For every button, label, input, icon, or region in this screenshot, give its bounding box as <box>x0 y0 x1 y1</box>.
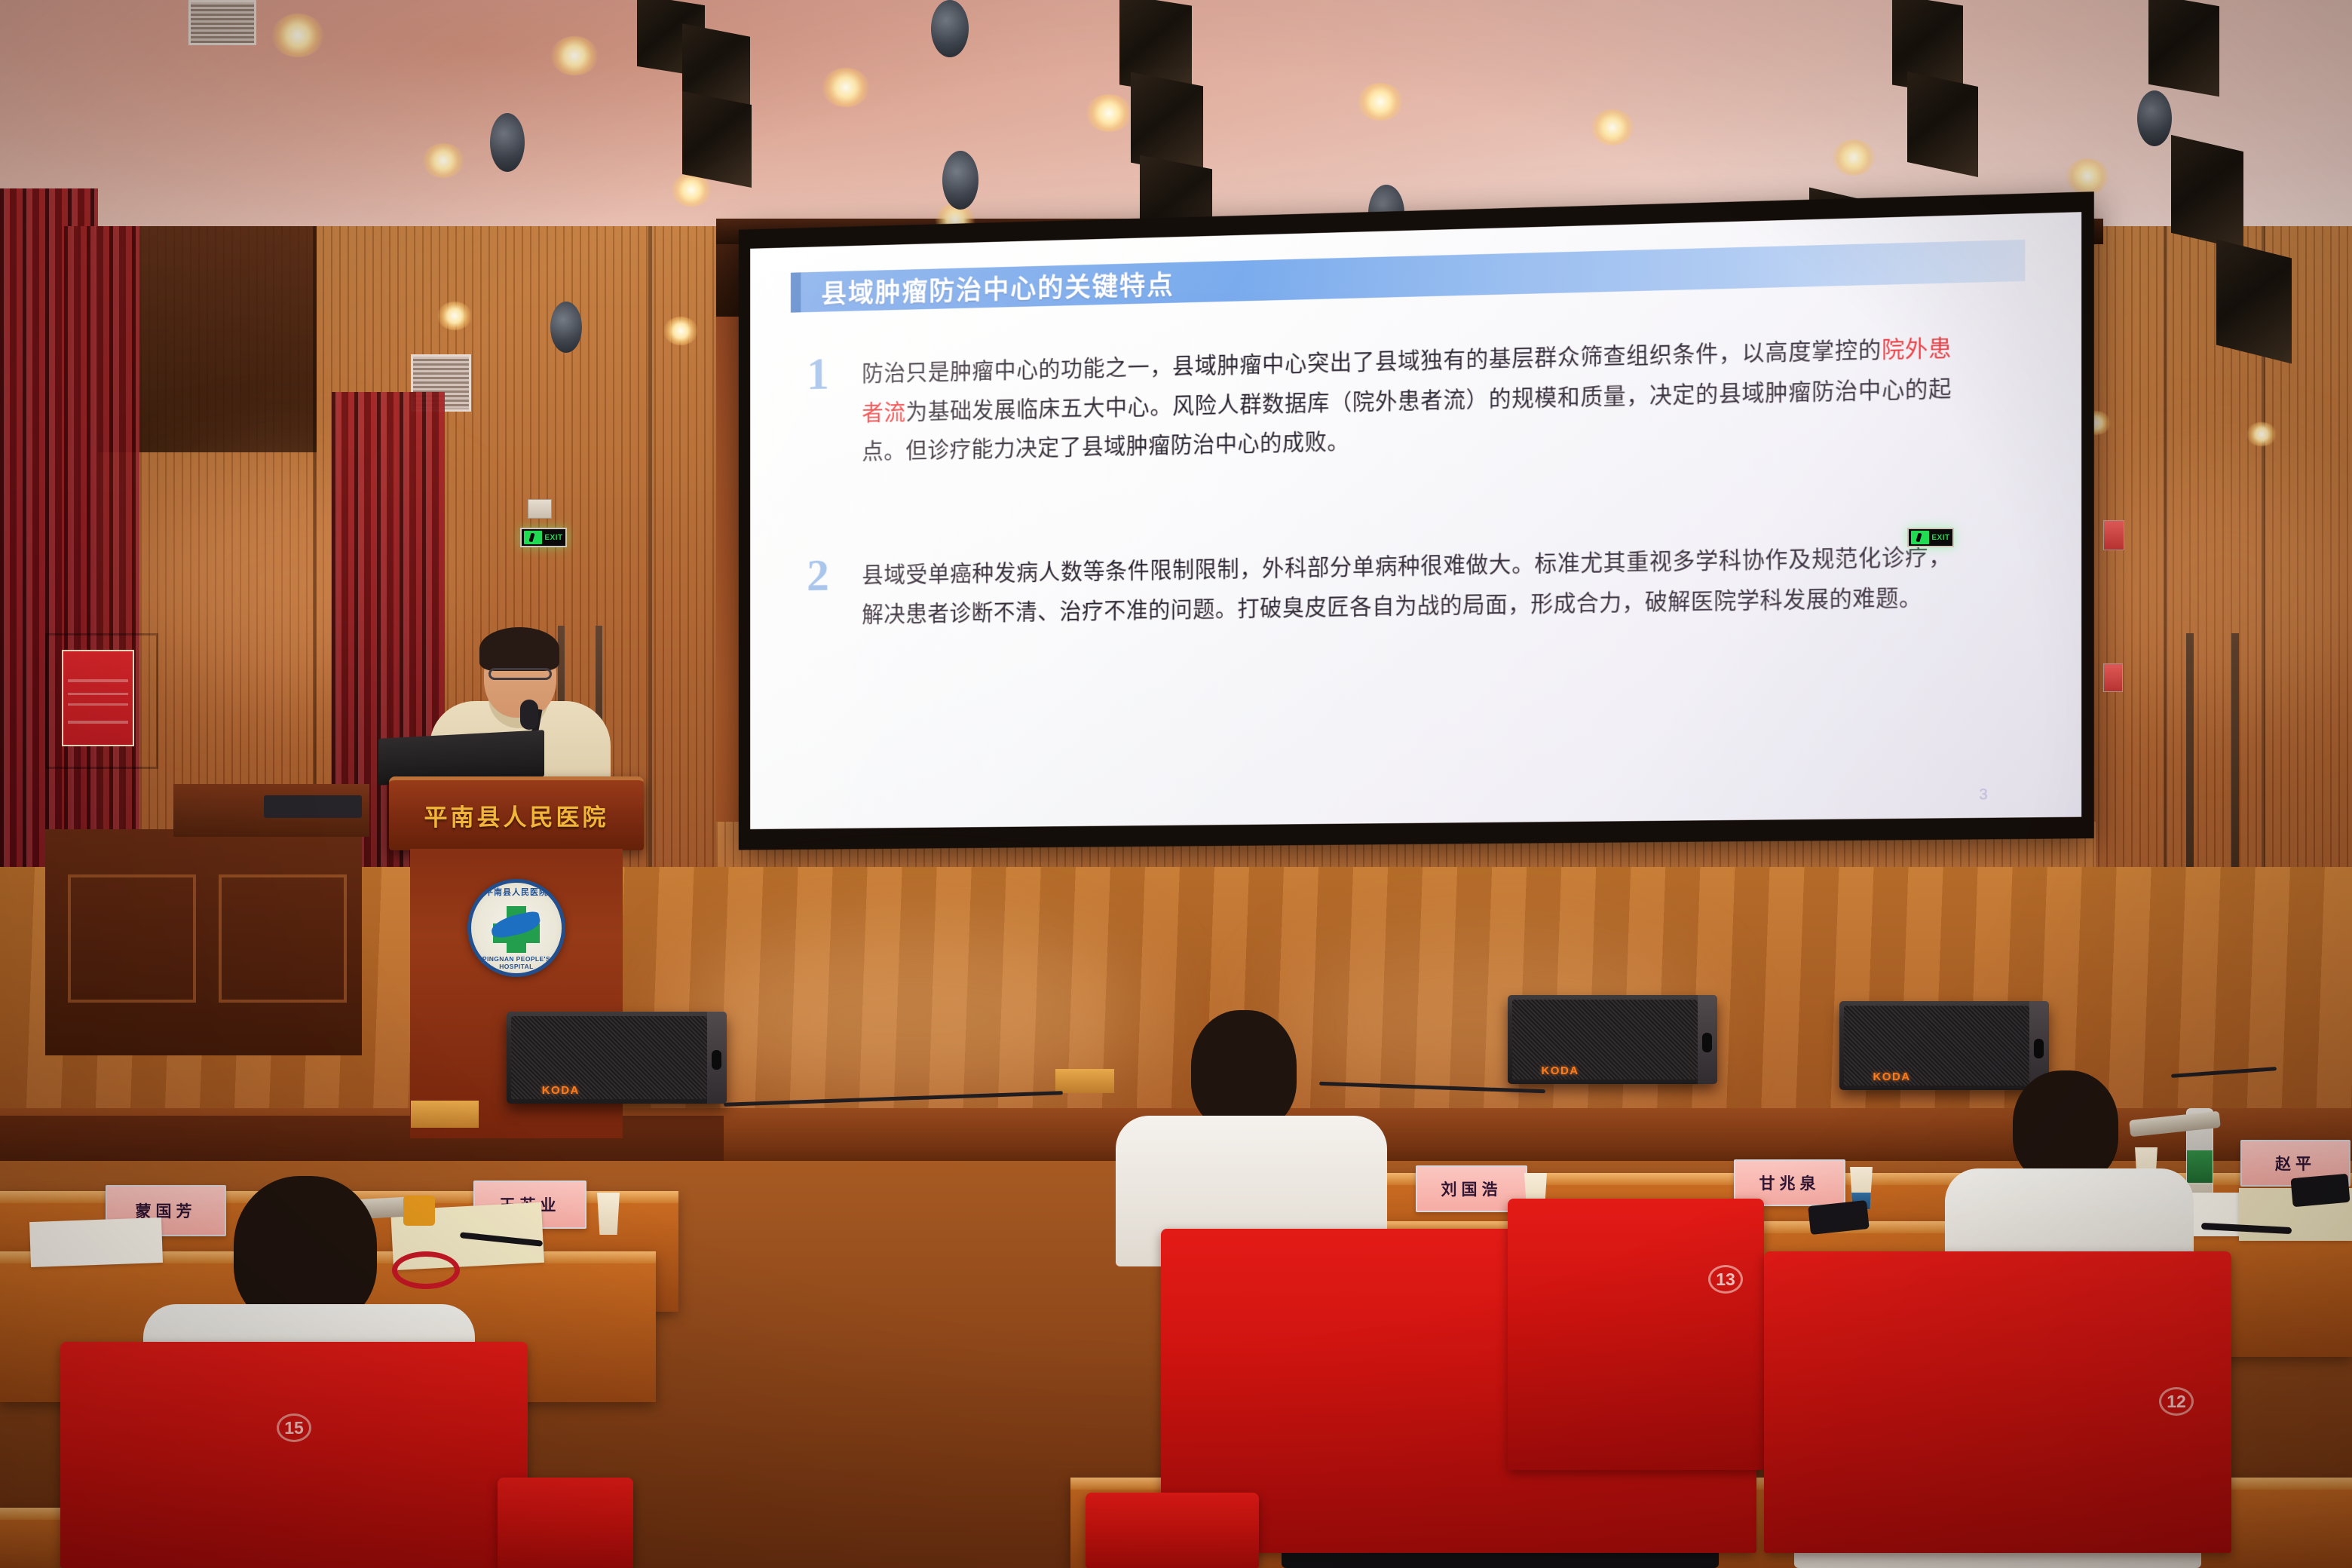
ceiling-baffle <box>682 91 752 188</box>
ceiling-light-icon <box>2066 158 2109 194</box>
stage-cabinet-panel <box>68 874 196 1003</box>
speaker-grill <box>511 1016 707 1099</box>
ceiling-speaker-icon <box>2137 90 2172 146</box>
paragraph-number: 2 <box>807 557 862 595</box>
stage-floor-block <box>1055 1069 1114 1093</box>
running-man-icon <box>1911 531 1929 544</box>
slide-title-bar: 县域肿瘤防治中心的关键特点 <box>791 240 2025 313</box>
ceiling-light-icon <box>2246 422 2277 446</box>
ceiling-light-icon <box>422 143 464 178</box>
wall-seam-2 <box>648 226 652 890</box>
paragraph-number: 1 <box>807 355 862 393</box>
smartphone[interactable] <box>2290 1174 2350 1207</box>
paragraph-body: 县域受单癌种发病人数等条件限制限制，外科部分单病种很难做大。标准尤其重视多学科协… <box>862 537 1952 635</box>
presenter-hair <box>479 627 559 671</box>
smartphone[interactable] <box>1808 1200 1870 1235</box>
name-card-text: 刘国浩 <box>1441 1178 1502 1200</box>
wall-switch-box[interactable] <box>528 499 552 519</box>
stage-tech-equipment <box>264 795 362 818</box>
speaker-grill <box>1512 1000 1698 1080</box>
wall-seam-3 <box>2164 226 2167 942</box>
chair-12[interactable]: 12 <box>1764 1251 2231 1553</box>
fire-hose-cabinet[interactable] <box>45 633 158 769</box>
chair-13[interactable]: 13 <box>1508 1199 1764 1470</box>
speaker-brand-label: KODA <box>542 1084 580 1097</box>
chair-number: 13 <box>1708 1265 1743 1294</box>
speaker-handle-icon <box>712 1050 721 1070</box>
chair-15[interactable]: 15 <box>60 1342 528 1568</box>
wall-pipe <box>2186 633 2194 882</box>
exit-sign-right: EXIT <box>1907 528 1954 547</box>
presentation-slide: 县域肿瘤防治中心的关键特点 1 防治只是肿瘤中心的功能之一，县域肿瘤中心突出了县… <box>750 212 2081 829</box>
hospital-logo: 平南县人民医院 PINGNAN PEOPLE'S HOSPITAL <box>467 879 565 977</box>
podium-name-text: 平南县人民医院 <box>424 798 609 832</box>
exit-sign-left: EXIT <box>520 528 567 547</box>
ceiling-light-icon <box>1591 109 1634 145</box>
speaker-brand-label: KODA <box>1541 1064 1579 1077</box>
wall-alarm-box-left[interactable] <box>2103 663 2123 692</box>
chair-back-center[interactable] <box>1086 1493 1259 1568</box>
ceiling-baffle <box>2171 135 2243 250</box>
slide-page-number: 3 <box>1979 786 1988 804</box>
exit-label: EXIT <box>544 534 562 542</box>
hospital-logo-english: PINGNAN PEOPLE'S HOSPITAL <box>471 955 562 970</box>
ceiling-light-icon <box>437 302 472 330</box>
stage-floor-block <box>411 1101 479 1128</box>
wall-wood-panel-right <box>2073 226 2352 942</box>
paragraph-text-pre: 县域受单癌种发病人数等条件限制限制，外科部分单病种很难做大。标准尤其重视多学科协… <box>862 544 1952 626</box>
chair-number: 15 <box>277 1413 311 1442</box>
ceiling-light-icon <box>663 317 698 345</box>
ceiling-baffle <box>1907 72 1978 177</box>
stage-monitor-speaker-1: KODA <box>507 1012 727 1104</box>
paragraph-text-post: 为基础发展临床五大中心。风险人群数据库（院外患者流）的规模和质量，决定的县域肿瘤… <box>862 376 1952 464</box>
ceiling-speaker-icon <box>931 0 969 57</box>
chair-number: 12 <box>2159 1387 2194 1416</box>
attendee-head <box>1191 1010 1297 1131</box>
ceiling-speaker-icon <box>490 113 525 172</box>
exit-label: EXIT <box>1931 534 1949 542</box>
presenter-glasses-icon <box>488 668 552 680</box>
paragraph-body: 防治只是肿瘤中心的功能之一，县域肿瘤中心突出了县域独有的基层群众筛查组织条件，以… <box>862 329 1952 472</box>
podium-microphone-head-icon <box>520 700 538 730</box>
slide-paragraph-2: 2 县域受单癌种发病人数等条件限制限制，外科部分单病种很难做大。标准尤其重视多学… <box>807 537 1952 635</box>
speaker-handle-icon <box>2034 1039 2044 1058</box>
ceiling-light-icon <box>1086 94 1132 132</box>
running-man-icon <box>524 531 542 544</box>
slide-title: 县域肿瘤防治中心的关键特点 <box>791 264 1174 312</box>
attendee-back-right <box>1116 1010 1387 1251</box>
attendee-head <box>2013 1070 2118 1184</box>
stage-monitor-speaker-2: KODA <box>1508 995 1717 1084</box>
name-card-text: 甘兆泉 <box>1759 1171 1821 1194</box>
slide-paragraph-1: 1 防治只是肿瘤中心的功能之一，县域肿瘤中心突出了县域独有的基层群众筛查组织条件… <box>807 329 1952 473</box>
ceiling-light-icon <box>822 68 870 107</box>
podium-name-plate: 平南县人民医院 <box>389 776 644 850</box>
ceiling-vent-icon <box>188 0 256 45</box>
ceiling-speaker-icon <box>942 151 978 210</box>
ceiling-light-icon <box>1357 83 1404 121</box>
wall-pipe <box>2231 633 2239 882</box>
hospital-logo-chinese: 平南县人民医院 <box>471 886 562 898</box>
paragraph-text-pre: 防治只是肿瘤中心的功能之一，县域肿瘤中心突出了县域独有的基层群众筛查组织条件，以… <box>862 338 1882 387</box>
conference-hall-photo: 县域肿瘤防治中心的关键特点 1 防治只是肿瘤中心的功能之一，县域肿瘤中心突出了县… <box>0 0 2352 1568</box>
projection-screen-frame: 县域肿瘤防治中心的关键特点 1 防治只是肿瘤中心的功能之一，县域肿瘤中心突出了县… <box>739 191 2094 850</box>
stage-cabinet-panel <box>219 874 347 1003</box>
speaker-handle-icon <box>1702 1033 1712 1052</box>
chair-back-left[interactable] <box>498 1478 633 1568</box>
ceiling-baffle <box>2148 0 2219 96</box>
projection-screen: 县域肿瘤防治中心的关键特点 1 防治只是肿瘤中心的功能之一，县域肿瘤中心突出了县… <box>750 212 2081 829</box>
ceiling-light-icon <box>550 36 599 75</box>
name-card-text: 赵平 <box>2275 1152 2316 1174</box>
speaker-brand-label: KODA <box>1873 1070 1910 1083</box>
ceiling-light-icon <box>271 14 324 57</box>
attendee-glasses-icon <box>392 1251 460 1289</box>
paper-cup <box>596 1193 621 1235</box>
ceiling-light-icon <box>1832 139 1876 176</box>
ceiling-baffle <box>2216 240 2292 364</box>
ceiling-speaker-icon <box>550 302 582 353</box>
wall-alarm-box[interactable] <box>2103 520 2124 550</box>
